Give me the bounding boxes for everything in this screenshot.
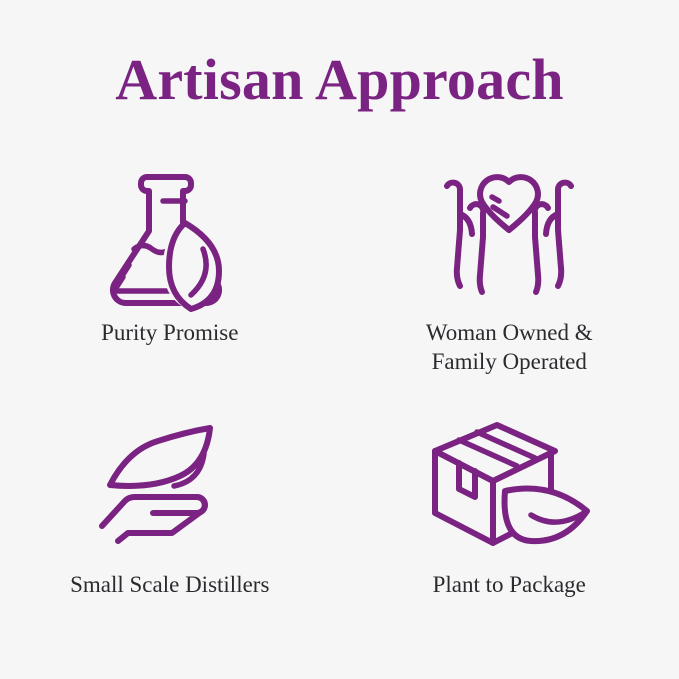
feature-label: Woman Owned & Family Operated: [426, 318, 593, 376]
feature-label: Plant to Package: [433, 570, 586, 599]
flask-leaf-icon: [80, 156, 260, 306]
page-title: Artisan Approach: [0, 48, 679, 112]
box-leaf-icon: [419, 418, 599, 548]
artisan-approach-panel: Artisan Approach: [0, 0, 679, 679]
feature-grid: Purity Promise: [0, 150, 679, 650]
feature-item-woman-owned: Woman Owned & Family Operated: [340, 150, 679, 400]
feature-item-purity-promise: Purity Promise: [0, 150, 340, 400]
feature-label: Small Scale Distillers: [70, 570, 269, 599]
feature-label: Purity Promise: [101, 318, 238, 347]
hands-heart-icon: [419, 156, 599, 306]
feature-item-small-scale-distillers: Small Scale Distillers: [0, 400, 340, 650]
hand-leaf-icon: [80, 418, 260, 548]
feature-item-plant-to-package: Plant to Package: [340, 400, 679, 650]
